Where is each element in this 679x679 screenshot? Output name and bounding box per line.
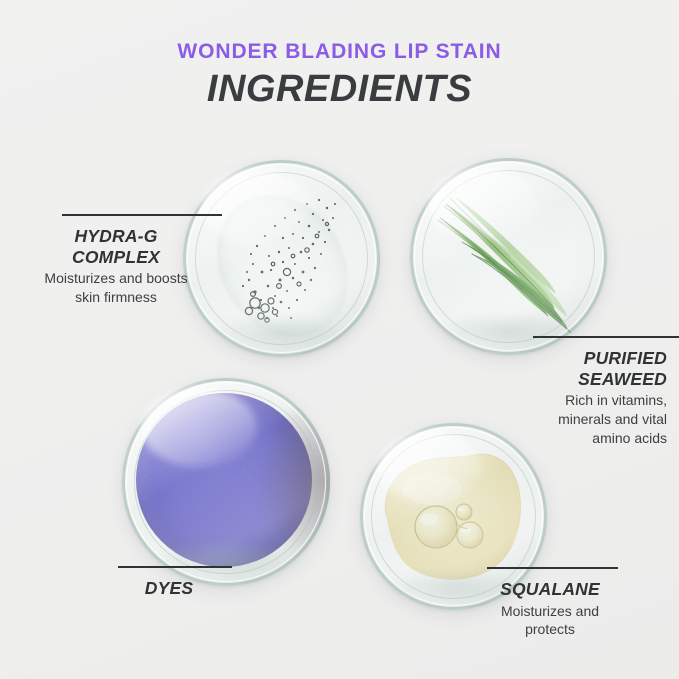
heading-block: WONDER BLADING LIP STAIN INGREDIENTS bbox=[0, 40, 679, 111]
ingredient-description: Moisturizes and boosts skin firmness bbox=[36, 269, 196, 306]
dish-rim-inner bbox=[422, 170, 595, 343]
petri-dish-purified-seaweed bbox=[410, 158, 607, 355]
infographic-canvas: WONDER BLADING LIP STAIN INGREDIENTS bbox=[0, 0, 679, 679]
ingredient-name: PURIFIED SEAWEED bbox=[519, 348, 667, 389]
ingredient-description: Moisturizes and protects bbox=[480, 602, 620, 639]
dish-rim-inner bbox=[134, 390, 317, 573]
leader-line bbox=[487, 567, 618, 569]
page-title: INGREDIENTS bbox=[0, 68, 679, 111]
leader-line bbox=[533, 336, 679, 338]
callout-purified-seaweed: PURIFIED SEAWEED Rich in vitamins, miner… bbox=[519, 348, 667, 447]
dish-rim-inner bbox=[371, 434, 536, 599]
callout-dyes: DYES bbox=[110, 578, 228, 599]
leader-line bbox=[118, 566, 232, 568]
dish-rim-inner bbox=[195, 172, 368, 345]
petri-dish-hydra-g-complex bbox=[183, 160, 380, 357]
petri-dish-dyes bbox=[122, 378, 330, 586]
callout-squalane: SQUALANE Moisturizes and protects bbox=[480, 579, 620, 639]
ingredient-name: SQUALANE bbox=[480, 579, 620, 600]
ingredient-description: Rich in vitamins, minerals and vital ami… bbox=[519, 391, 667, 447]
callout-hydra-g-complex: HYDRA-G COMPLEX Moisturizes and boosts s… bbox=[36, 226, 196, 307]
ingredient-name: HYDRA-G COMPLEX bbox=[36, 226, 196, 267]
ingredient-name: DYES bbox=[110, 578, 228, 599]
product-name: WONDER BLADING LIP STAIN bbox=[0, 40, 679, 63]
leader-line bbox=[62, 214, 222, 216]
